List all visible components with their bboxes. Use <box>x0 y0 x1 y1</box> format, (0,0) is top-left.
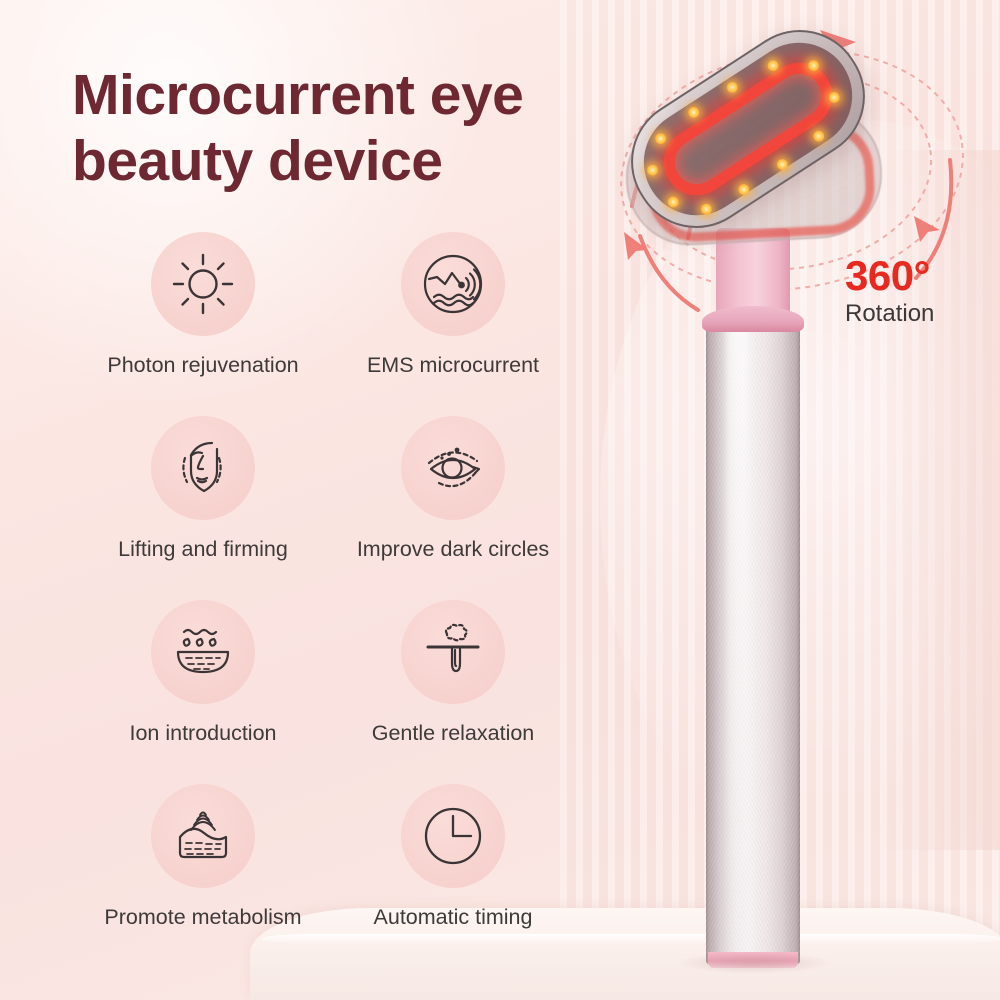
page-title: Microcurrent eye beauty device <box>72 62 632 194</box>
feature-item-ems-microcurrent[interactable]: EMS microcurrent <box>328 232 578 416</box>
led-dot <box>699 201 714 216</box>
device-neck <box>716 228 790 332</box>
eye-icon <box>401 416 505 520</box>
feature-label: Lifting and firming <box>118 537 288 562</box>
device-handle-texture <box>706 314 800 964</box>
clock-icon <box>401 784 505 888</box>
led-dot <box>806 58 821 73</box>
led-dot <box>775 157 790 172</box>
rotation-degrees: 360° <box>845 255 934 297</box>
product-marketing-image: Microcurrent eye beauty device <box>0 0 1000 1000</box>
led-dot <box>666 194 681 209</box>
led-dot <box>736 182 751 197</box>
feature-row: Lifting and firming Improve dark <box>78 416 578 600</box>
skin-layers-icon <box>151 784 255 888</box>
feature-item-gentle-relaxation[interactable]: Gentle relaxation <box>328 600 578 784</box>
water-bowl-icon <box>151 600 255 704</box>
device-head-ghost-led-ring <box>645 120 877 244</box>
sun-icon <box>151 232 255 336</box>
feature-label: EMS microcurrent <box>367 353 539 378</box>
feature-label: Ion introduction <box>129 721 276 746</box>
feature-row: Photon rejuvenation EMS microcurr <box>78 232 578 416</box>
led-dot <box>811 128 826 143</box>
feature-item-automatic-timing[interactable]: Automatic timing <box>328 784 578 968</box>
background-glow-right <box>600 120 1000 880</box>
face-lift-icon <box>151 416 255 520</box>
page-title-line-1: Microcurrent eye <box>72 62 632 128</box>
led-ring <box>651 50 845 208</box>
led-dot <box>765 58 780 73</box>
feature-grid: Photon rejuvenation EMS microcurr <box>78 232 578 968</box>
feature-item-improve-dark-circles[interactable]: Improve dark circles <box>328 416 578 600</box>
device-handle-highlight <box>726 318 748 958</box>
feature-item-promote-metabolism[interactable]: Promote metabolism <box>78 784 328 968</box>
led-dot <box>686 105 701 120</box>
page-title-line-2: beauty device <box>72 128 632 194</box>
feature-item-lifting-and-firming[interactable]: Lifting and firming <box>78 416 328 600</box>
led-dot <box>645 163 660 178</box>
feature-label: Photon rejuvenation <box>107 353 298 378</box>
device-head-shell <box>607 6 889 252</box>
feature-label: Gentle relaxation <box>372 721 535 746</box>
feature-item-ion-introduction[interactable]: Ion introduction <box>78 600 328 784</box>
pore-follicle-icon <box>401 600 505 704</box>
feature-label: Improve dark circles <box>357 537 549 562</box>
feature-label: Automatic timing <box>374 905 533 930</box>
device-handle <box>706 314 800 964</box>
device-head-face <box>624 22 873 235</box>
device-head-rotation-ghost <box>623 103 886 248</box>
rotation-arrows <box>580 10 1000 340</box>
led-dot <box>827 90 842 105</box>
led-dot <box>653 131 668 146</box>
feature-row: Ion introduction Gentle relaxation <box>78 600 578 784</box>
feature-label: Promote metabolism <box>104 905 301 930</box>
device-neck-collar <box>702 306 804 332</box>
feature-item-photon-rejuvenation[interactable]: Photon rejuvenation <box>78 232 328 416</box>
rotation-subtitle: Rotation <box>845 302 934 326</box>
wave-signal-icon <box>401 232 505 336</box>
rotation-callout: 360° Rotation <box>845 255 934 326</box>
feature-row: Promote metabolism Automatic timing <box>78 784 578 968</box>
led-dot <box>725 80 740 95</box>
